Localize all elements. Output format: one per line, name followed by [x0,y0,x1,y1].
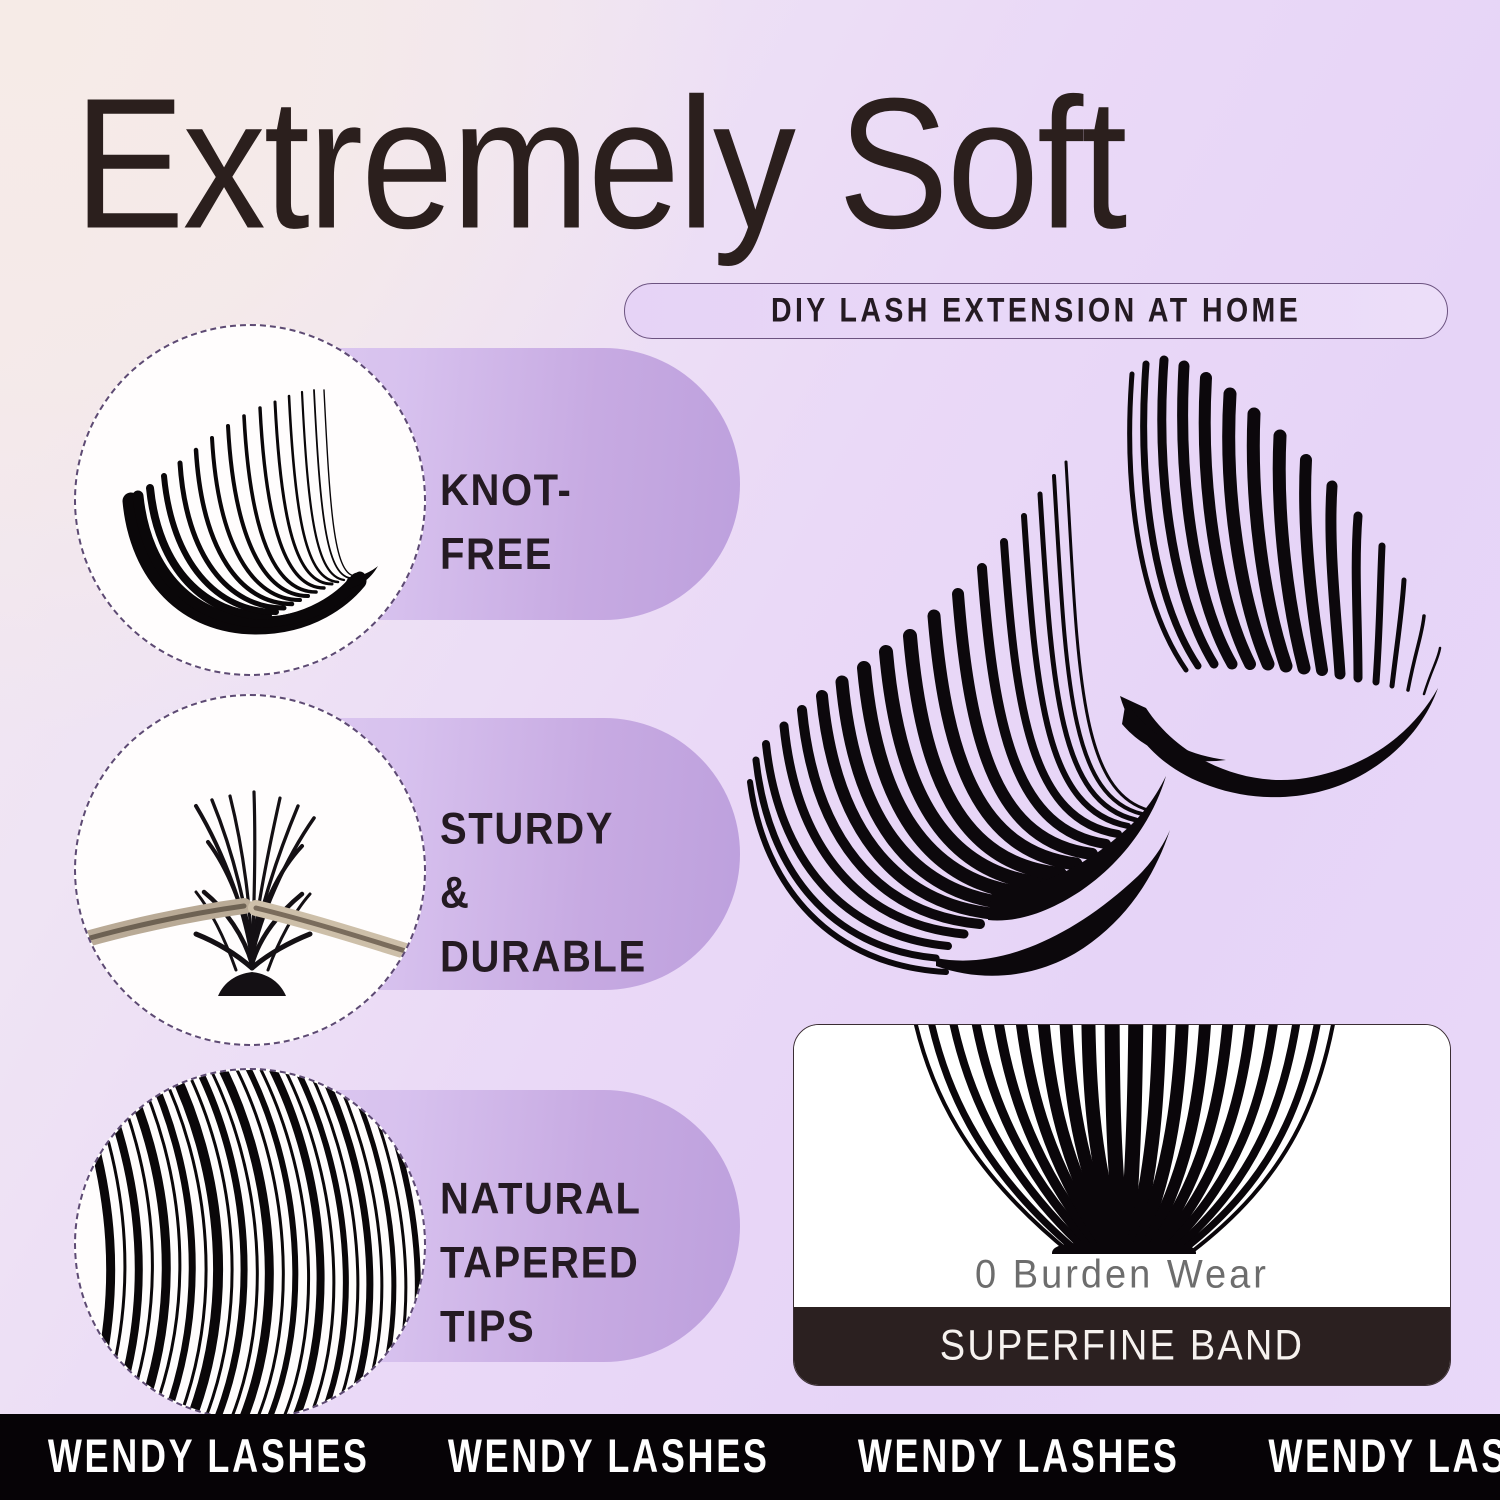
footer-brand-item: WENDY LAS [1268,1430,1500,1483]
feature-label-sturdy-durable: STURDY & DURABLE [440,798,647,989]
footer-brand-item: WENDY LASHES [448,1430,770,1483]
feature-image-tapered-tips [74,1068,426,1420]
feature-label-knot-free: KNOT-FREE [440,459,572,586]
footer-brand-item: WENDY LASHES [858,1430,1180,1483]
lash-cluster-band-icon [794,1025,1450,1254]
lash-cluster-curl-icon [76,326,426,676]
hero-product-image [740,330,1500,1010]
feature-label-line-1: NATURAL TAPERED TIPS [440,1174,642,1351]
two-lash-clusters-icon [740,330,1500,1010]
footer-brand-marquee: WENDY LASHES WENDY LASHES WENDY LASHES W… [0,1414,1500,1500]
card-bar-label: SUPERFINE BAND [940,1322,1304,1370]
tapered-lash-fibers-icon [76,1070,426,1420]
product-feature-card: 0 Burden Wear SUPERFINE BAND [793,1024,1451,1386]
feature-label-tapered-tips: NATURAL TAPERED TIPS [440,1168,642,1359]
subtitle-badge-label: DIY LASH EXTENSION AT HOME [771,291,1301,330]
feature-label-line-1: STURDY & DURABLE [440,804,647,981]
page-title: Extremely Soft [74,74,1494,254]
feature-image-sturdy-durable [74,694,426,1046]
card-image-superfine-band [794,1025,1450,1254]
card-caption: 0 Burden Wear [794,1252,1450,1308]
card-bottom-bar: SUPERFINE BAND [794,1307,1450,1385]
tweezers-holding-lash-icon [76,696,426,1046]
feature-image-knot-free [74,324,426,676]
footer-brand-item: WENDY LASHES [48,1430,370,1483]
